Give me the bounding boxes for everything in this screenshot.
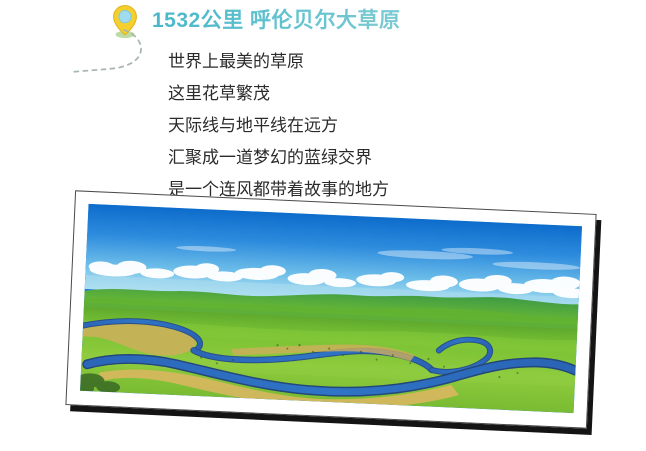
- photo-frame: [65, 190, 596, 428]
- poem-line: 这里花草繁茂: [168, 78, 548, 110]
- poem-block: 世界上最美的草原 这里花草繁茂 天际线与地平线在远方 汇聚成一道梦幻的蓝绿交界 …: [168, 46, 548, 206]
- header: 1532公里 呼伦贝尔大草原: [108, 2, 401, 40]
- map-pin-icon: [108, 3, 142, 39]
- grassland-photo: [80, 204, 582, 413]
- page-root: 1532公里 呼伦贝尔大草原 世界上最美的草原 这里花草繁茂 天际线与地平线在远…: [0, 0, 646, 451]
- photo-card: [65, 190, 596, 428]
- poem-line: 天际线与地平线在远方: [168, 110, 548, 142]
- poem-line: 世界上最美的草原: [168, 46, 548, 78]
- poem-line: 汇聚成一道梦幻的蓝绿交界: [168, 142, 548, 174]
- page-title: 1532公里 呼伦贝尔大草原: [152, 4, 401, 38]
